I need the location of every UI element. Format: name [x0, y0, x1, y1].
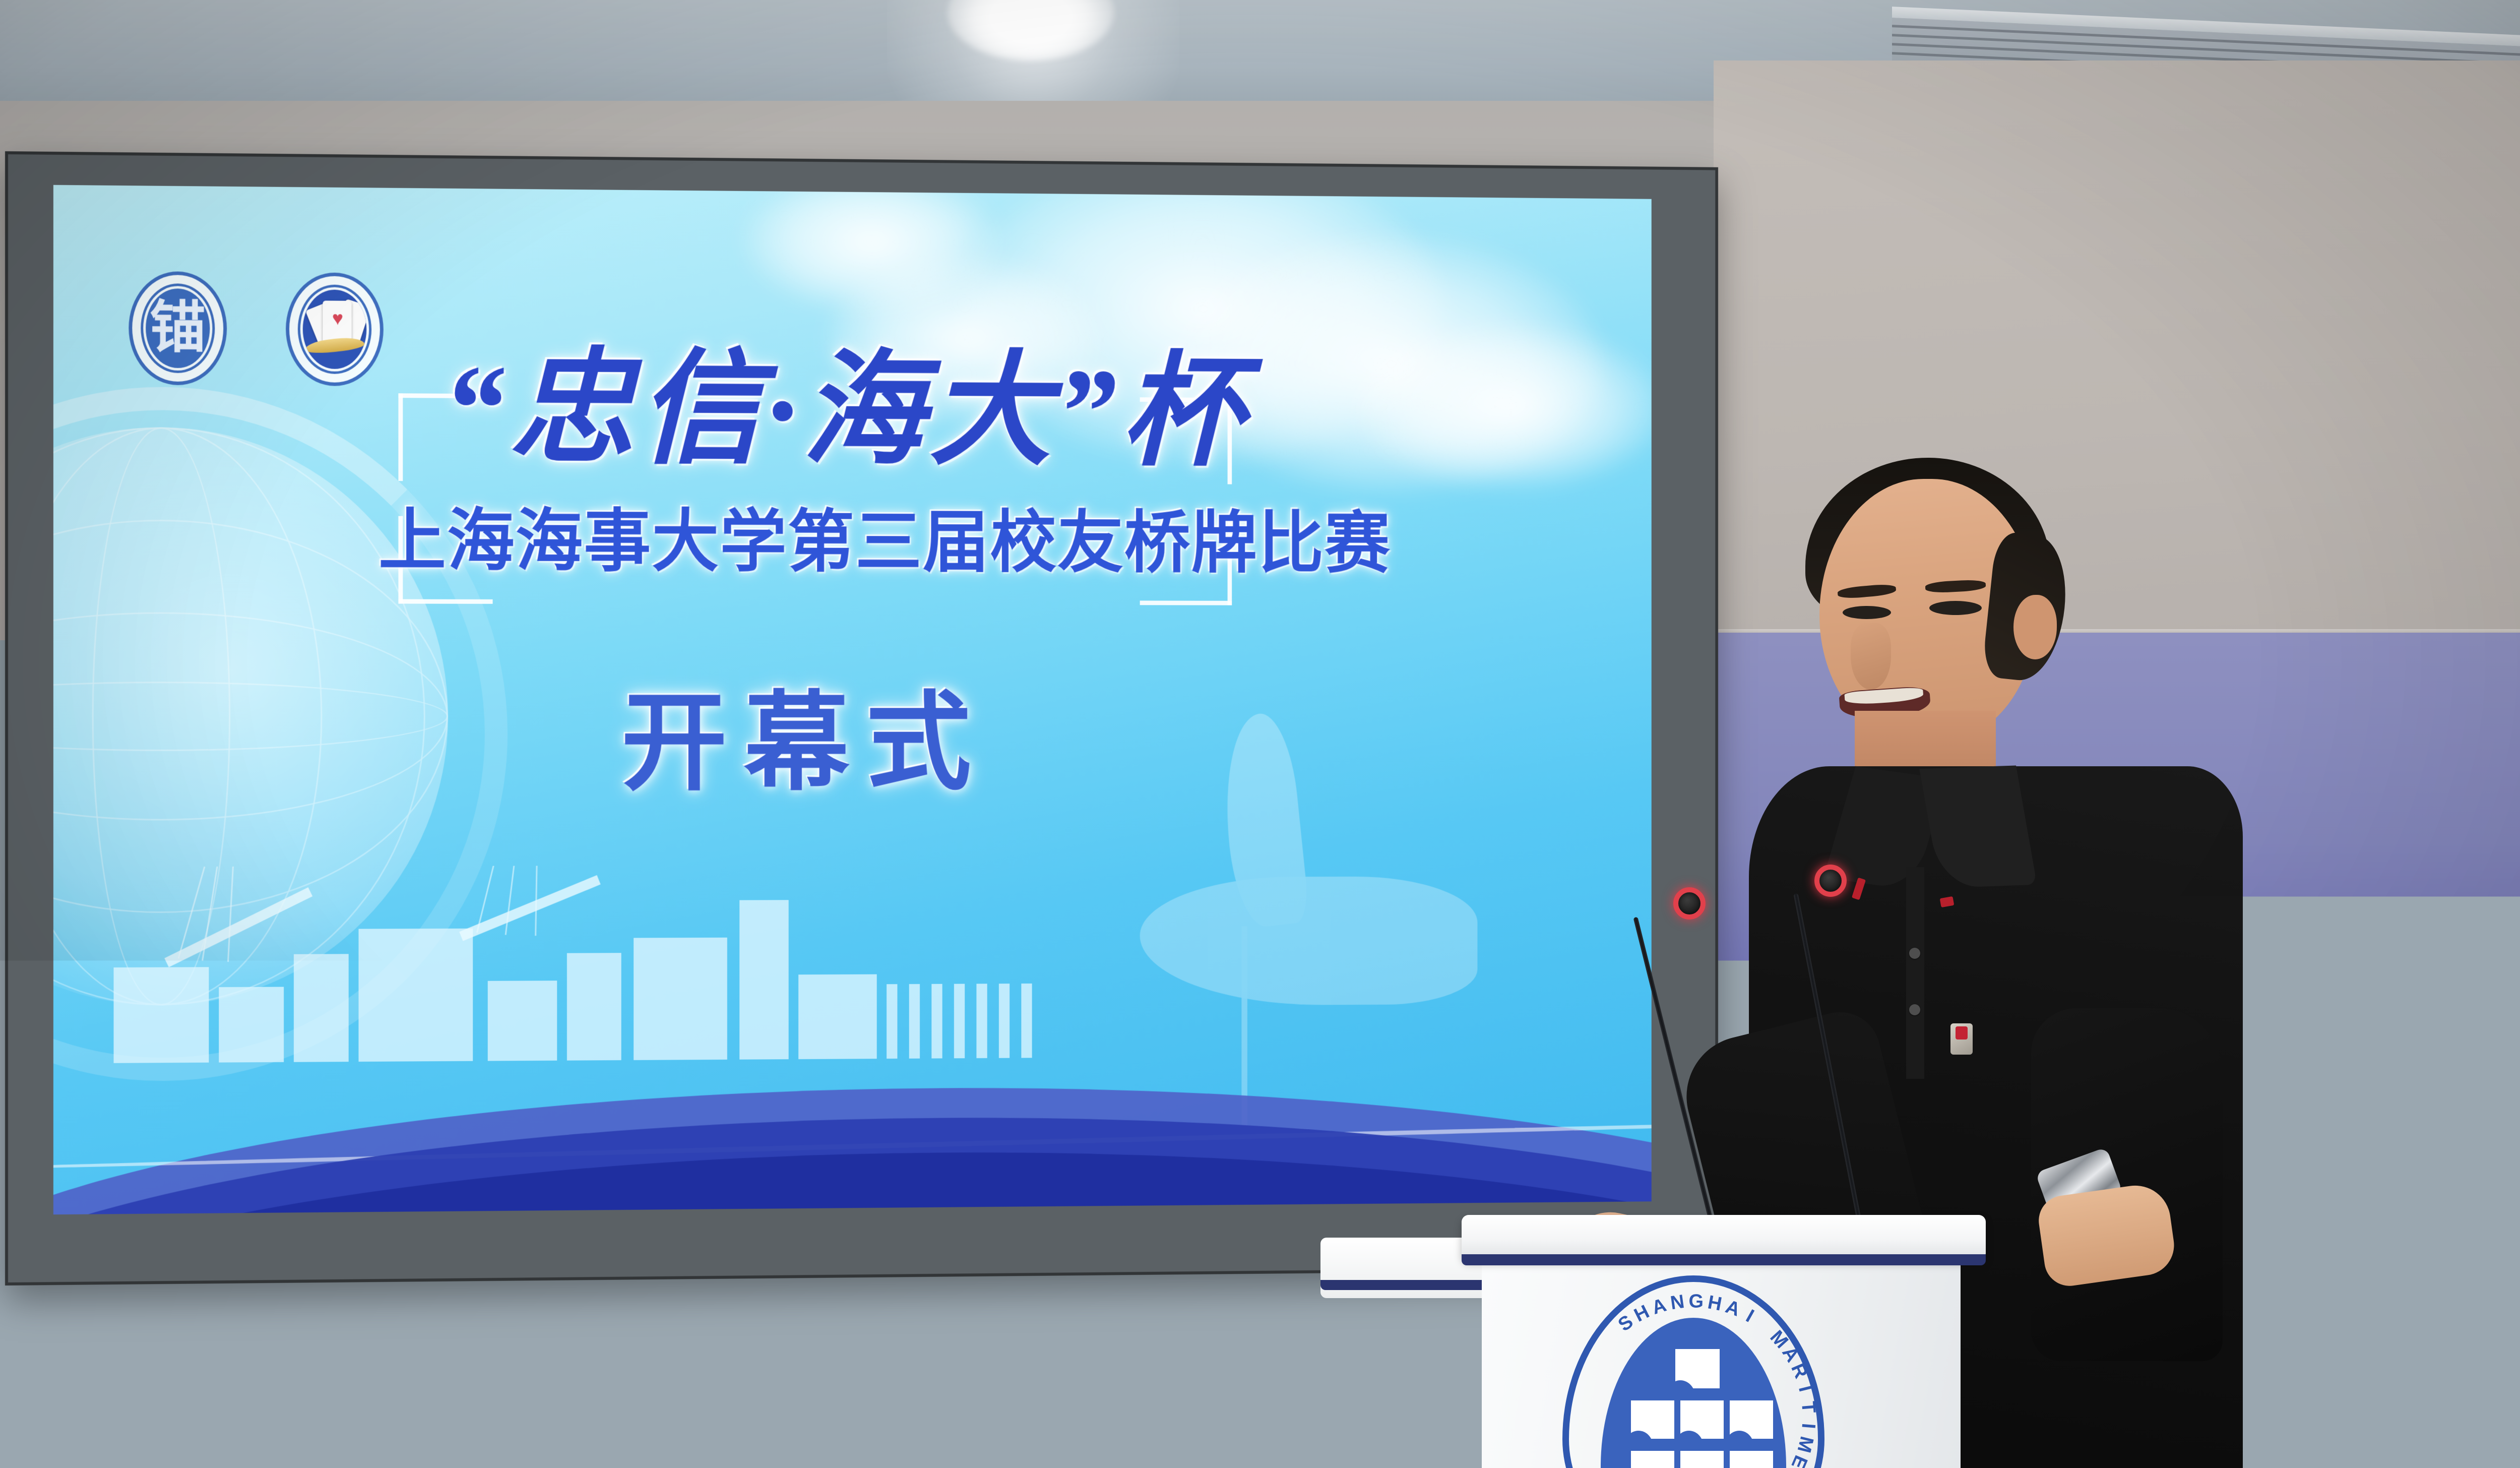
- shirt-placket: [1906, 867, 1924, 1079]
- projection-screen-surface: 锚 ♥: [53, 185, 1652, 1214]
- podium-university-emblem: SHANGHAIMARITIMEUNIVERSITY: [1562, 1275, 1824, 1468]
- ear: [2013, 595, 2057, 659]
- heart-suit-icon: ♥: [330, 312, 346, 327]
- slide-subtitle: 上海海事大学第三届校友桥牌比赛: [379, 504, 1367, 581]
- gooseneck-mic-head-icon[interactable]: [1814, 865, 1847, 897]
- eye-right: [1929, 601, 1982, 615]
- conference-room-scene: 锚 ♥: [0, 0, 2520, 1468]
- audio-cable: [2066, 1275, 2328, 1321]
- slide-logo-row: 锚 ♥: [129, 271, 383, 386]
- lapel-pin-badge: [1950, 1023, 1973, 1055]
- slide-logo-bridge-club-seal: ♥: [286, 272, 384, 386]
- shirt-button: [1909, 1004, 1920, 1015]
- gooseneck-mic-head-icon[interactable]: [1673, 887, 1706, 920]
- projection-screen-frame: 锚 ♥: [5, 151, 1718, 1286]
- shirt-button: [1909, 948, 1920, 959]
- harbor-skyline-graphic: [53, 863, 1652, 1214]
- nose: [1851, 623, 1891, 690]
- eye-left: [1843, 606, 1891, 619]
- gold-ribbon-banner: [304, 336, 365, 354]
- slide-title-block: “忠信·海大”杯 上海海事大学第三届校友桥牌比赛: [398, 353, 1343, 359]
- university-seal-glyph: 锚: [150, 300, 206, 356]
- lectern-podium: SHANGHAIMARITIMEUNIVERSITY: [1477, 1215, 1971, 1468]
- podium-top-surface: [1462, 1215, 1986, 1260]
- slide-logo-university-seal: 锚: [129, 271, 227, 386]
- slide-ceremony-label: 开幕式: [621, 689, 988, 797]
- slide-main-title: “忠信·海大”杯: [443, 343, 1208, 478]
